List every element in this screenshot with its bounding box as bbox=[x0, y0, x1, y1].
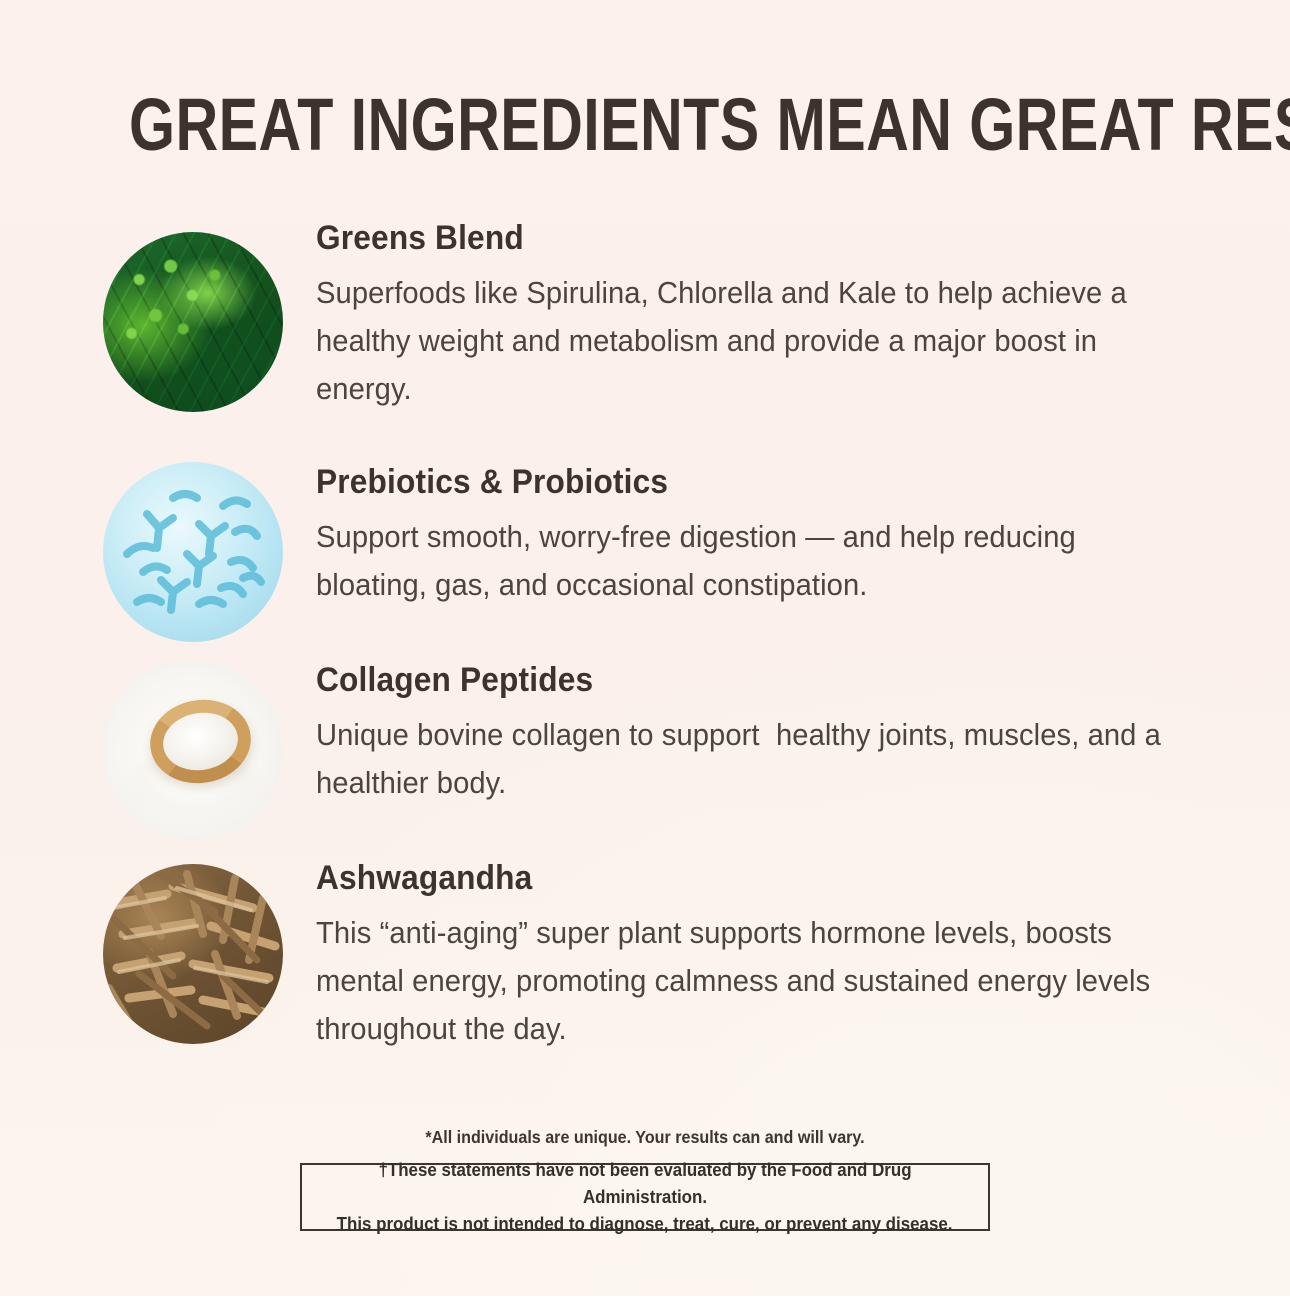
greens-blend-copy: Greens Blend Superfoods like Spirulina, … bbox=[316, 218, 1216, 413]
bottom-white-strip bbox=[0, 1296, 1290, 1308]
fda-disclaimer-line-1: †These statements have not been evaluate… bbox=[323, 1157, 968, 1211]
ingredients-infographic: GREAT INGREDIENTS MEAN GREAT RESULTS Gre… bbox=[0, 0, 1290, 1308]
ingredient-description: This “anti-aging” super plant supports h… bbox=[316, 909, 1176, 1053]
ashwagandha-copy: Ashwagandha This “anti-aging” super plan… bbox=[316, 858, 1216, 1053]
kale-greens-icon bbox=[103, 232, 283, 412]
collagen-peptides-image bbox=[103, 660, 283, 840]
greens-blend-image bbox=[103, 232, 283, 412]
ingredient-description: Unique bovine collagen to support health… bbox=[316, 711, 1176, 807]
ingredient-title: Ashwagandha bbox=[316, 858, 1153, 898]
ingredient-description: Support smooth, worry-free digestion — a… bbox=[316, 513, 1176, 609]
ingredient-list: Greens Blend Superfoods like Spirulina, … bbox=[0, 0, 1290, 1308]
prebiotics-probiotics-copy: Prebiotics & Probiotics Support smooth, … bbox=[316, 462, 1216, 609]
probiotic-bacteria-icon bbox=[103, 462, 283, 642]
prebiotics-probiotics-image bbox=[103, 462, 283, 642]
ingredient-title: Collagen Peptides bbox=[316, 660, 1153, 700]
ingredient-description: Superfoods like Spirulina, Chlorella and… bbox=[316, 269, 1176, 413]
results-disclaimer: *All individuals are unique. Your result… bbox=[52, 1126, 1239, 1148]
ingredient-title: Greens Blend bbox=[316, 218, 1153, 258]
ingredient-title: Prebiotics & Probiotics bbox=[316, 462, 1153, 502]
ashwagandha-roots-icon bbox=[103, 864, 283, 1044]
collagen-powder-bowl-icon bbox=[103, 660, 283, 840]
collagen-peptides-copy: Collagen Peptides Unique bovine collagen… bbox=[316, 660, 1216, 807]
ashwagandha-image bbox=[103, 864, 283, 1044]
fda-disclaimer-line-2: This product is not intended to diagnose… bbox=[337, 1211, 953, 1238]
fda-disclaimer-box: †These statements have not been evaluate… bbox=[300, 1163, 990, 1231]
